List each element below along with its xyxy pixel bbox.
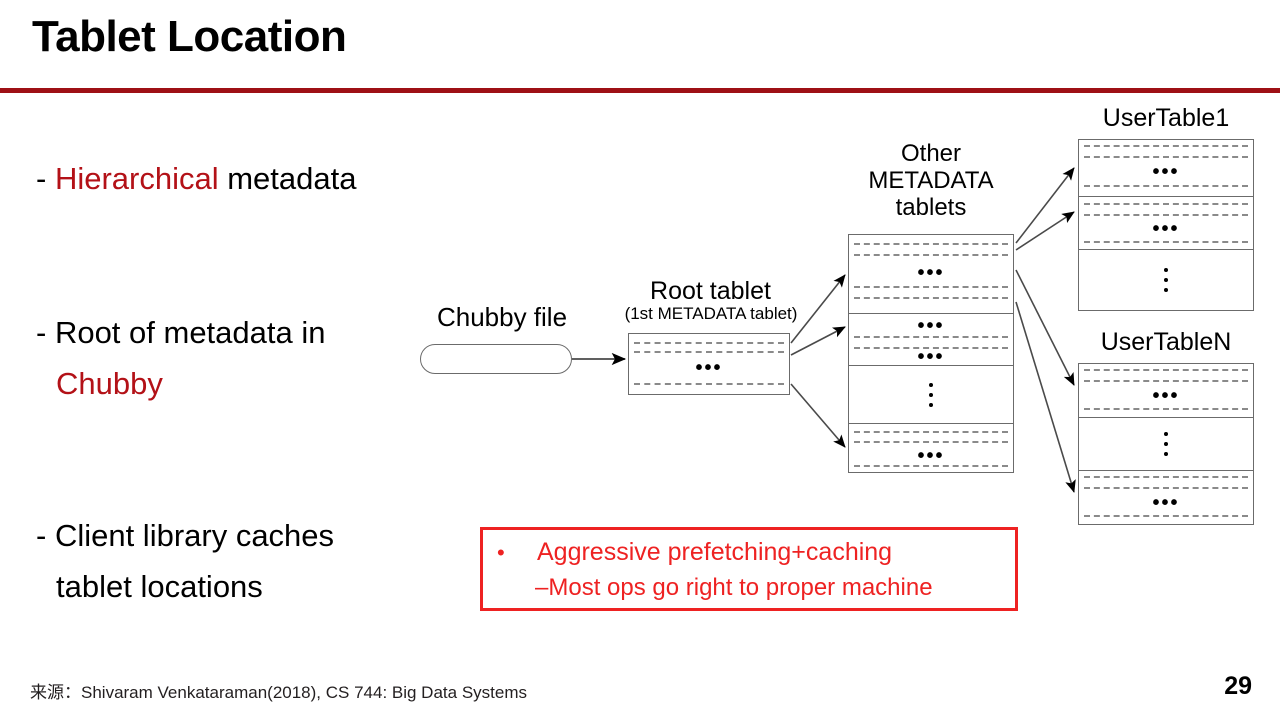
horizontal-ellipsis: ••• xyxy=(849,446,1013,466)
tablet-section: ••• xyxy=(849,423,1013,471)
bullet-dash: - xyxy=(36,518,55,553)
horizontal-ellipsis: ••• xyxy=(1079,493,1253,513)
page-number: 29 xyxy=(1224,672,1252,701)
bullet-dash: - xyxy=(36,315,55,350)
bullet-plain-text: Client library caches xyxy=(55,518,334,553)
tablet-section xyxy=(849,365,1013,423)
horizontal-ellipsis: ••• xyxy=(1079,162,1253,182)
usertablen-label: UserTableN xyxy=(1068,328,1264,356)
usertable1-label: UserTable1 xyxy=(1068,104,1264,132)
tablet-section: ••• xyxy=(1079,140,1253,196)
bullet-plain-text: Root of metadata in xyxy=(55,315,326,350)
horizontal-ellipsis: ••• xyxy=(849,316,1013,336)
arrow-metadata-to-usertable1-b xyxy=(1016,212,1074,250)
bullet-second-line: tablet locations xyxy=(36,561,263,612)
arrow-metadata-to-usertablen-a xyxy=(1016,270,1074,385)
chubby-file-shape xyxy=(420,344,572,374)
tablet-section: ••• xyxy=(849,235,1013,313)
bullet-item-root-of-metadata: - Root of metadata in Chubby xyxy=(36,307,436,409)
root-tablet-box: ••• xyxy=(628,333,790,395)
root-tablet-label: Root tablet xyxy=(608,277,813,305)
root-tablet-sublabel: (1st METADATA tablet) xyxy=(600,304,822,323)
tablet-section xyxy=(1079,417,1253,470)
arrow-metadata-to-usertablen-b xyxy=(1016,302,1074,492)
horizontal-ellipsis: ••• xyxy=(1079,219,1253,239)
tablet-section: ••• xyxy=(1079,196,1253,249)
callout-line-1-text: Aggressive prefetching+caching xyxy=(537,538,892,566)
arrow-metadata-to-usertable1-a xyxy=(1016,168,1074,243)
bullet-accent-text: Hierarchical xyxy=(55,161,219,196)
horizontal-ellipsis: ••• xyxy=(849,263,1013,283)
footer-source-text: 来源：Shivaram Venkataraman(2018), CS 744: … xyxy=(30,678,527,703)
callout-line-2: –Most ops go right to proper machine xyxy=(535,574,933,602)
bullet-dash: - xyxy=(36,161,55,196)
tablet-section xyxy=(1079,249,1253,309)
bullet-accent-second-line: Chubby xyxy=(36,358,163,409)
tablet-section: ••• xyxy=(1079,470,1253,523)
metadata-tablets-label: Other METADATA tablets xyxy=(845,141,1017,222)
page-title: Tablet Location xyxy=(32,14,346,60)
tablet-section: ••• xyxy=(629,334,789,394)
vertical-ellipsis xyxy=(1079,426,1253,462)
arrow-root-to-metadata-2 xyxy=(791,327,845,355)
vertical-ellipsis xyxy=(1079,262,1253,298)
chubby-file-label: Chubby file xyxy=(412,303,592,332)
bullet-item-hierarchical-metadata: - Hierarchical metadata xyxy=(36,153,456,204)
usertable1-box: ••• ••• xyxy=(1078,139,1254,311)
callout-line-1: •Aggressive prefetching+caching xyxy=(497,538,892,567)
usertablen-box: ••• ••• xyxy=(1078,363,1254,525)
callout-box: •Aggressive prefetching+caching –Most op… xyxy=(480,527,1018,611)
bullet-rest-text: metadata xyxy=(219,161,357,196)
tablet-section: ••• ••• xyxy=(849,313,1013,365)
horizontal-ellipsis: ••• xyxy=(1079,386,1253,406)
bullet-item-client-library-caches: - Client library caches tablet locations xyxy=(36,510,456,612)
metadata-tablets-box: ••• ••• ••• ••• xyxy=(848,234,1014,473)
horizontal-ellipsis: ••• xyxy=(629,358,789,378)
tablet-section: ••• xyxy=(1079,364,1253,417)
callout-bullet-icon: • xyxy=(497,540,537,566)
arrow-root-to-metadata-1 xyxy=(791,275,845,343)
horizontal-ellipsis: ••• xyxy=(849,347,1013,367)
title-divider xyxy=(0,88,1280,93)
vertical-ellipsis xyxy=(849,377,1013,413)
arrow-root-to-metadata-3 xyxy=(791,384,845,447)
